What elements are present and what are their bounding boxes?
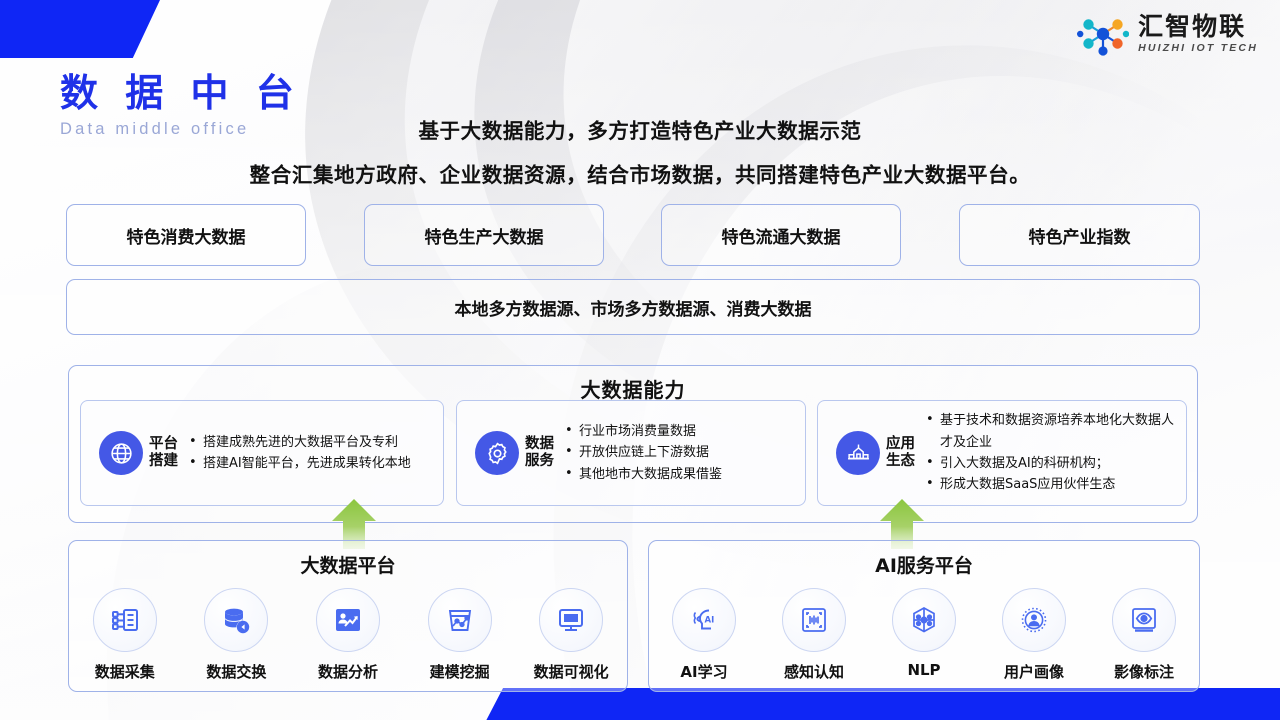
platform-item-label: 用户画像: [1004, 661, 1064, 682]
data-source-band-label: 本地多方数据源、市场多方数据源、消费大数据: [455, 295, 812, 320]
top-box-consumption[interactable]: 特色消费大数据: [66, 204, 306, 266]
platform-item-data-visualization[interactable]: 数据可视化: [519, 588, 623, 682]
platform-title: AI服务平台: [649, 551, 1199, 578]
platform-item-data-collect[interactable]: 数据采集: [73, 588, 177, 682]
data-visualization-icon: [539, 588, 603, 652]
capability-name-line-2: 生态: [886, 453, 915, 469]
platform-item-label: 数据交换: [206, 661, 266, 682]
bullet-item: 开放供应链上下游数据: [565, 442, 797, 463]
platform-item-label: 建模挖掘: [430, 661, 490, 682]
data-collect-icon: [93, 588, 157, 652]
platform-item-list: 数据采集 数据交换: [69, 588, 627, 682]
bullet-item: 搭建成熟先进的大数据平台及专利: [189, 432, 435, 453]
bullet-item: 其他地市大数据成果借鉴: [565, 464, 797, 485]
top-box-circulation[interactable]: 特色流通大数据: [661, 204, 901, 266]
capability-item-data-service[interactable]: 数据 服务 行业市场消费量数据 开放供应链上下游数据 其他地市大数据成果借鉴: [456, 400, 806, 506]
top-box-label: 特色生产大数据: [425, 223, 544, 248]
bullet-item: 形成大数据SaaS应用伙伴生态: [926, 474, 1178, 495]
platform-item-label: 感知认知: [784, 661, 844, 682]
platform-item-list: AI AI学习: [649, 588, 1199, 682]
data-analysis-icon: [316, 588, 380, 652]
platform-item-label: AI学习: [680, 661, 727, 682]
top-box-label: 特色流通大数据: [722, 223, 841, 248]
data-source-band[interactable]: 本地多方数据源、市场多方数据源、消费大数据: [66, 279, 1200, 335]
logo-name-cn: 汇智物联: [1138, 14, 1258, 39]
logo-name-en: HUIZHI IOT TECH: [1138, 43, 1258, 54]
headline-line-2: 整合汇集地方政府、企业数据资源，结合市场数据，共同搭建特色产业大数据平台。: [0, 158, 1280, 188]
platform-item-label: 数据采集: [95, 661, 155, 682]
capability-item-application-ecosystem[interactable]: 应用 生态 基于技术和数据资源培养本地化大数据人才及企业 引入大数据及AI的科研…: [817, 400, 1187, 506]
image-annotation-icon: [1112, 588, 1176, 652]
svg-text:AI: AI: [705, 615, 715, 625]
platform-big-data: 大数据平台 数据采: [68, 540, 628, 692]
capability-item-name: 应用 生态: [886, 436, 920, 469]
top-box-label: 特色消费大数据: [127, 223, 246, 248]
capability-bullet-list: 搭建成熟先进的大数据平台及专利 搭建AI智能平台，先进成果转化本地: [189, 432, 435, 475]
bullet-item: 基于技术和数据资源培养本地化大数据人才及企业: [926, 410, 1178, 453]
nlp-network-icon: [892, 588, 956, 652]
platform-item-nlp[interactable]: NLP: [872, 588, 976, 679]
platform-item-user-profile[interactable]: 用户画像: [982, 588, 1086, 682]
globe-icon: [99, 431, 143, 475]
modeling-mining-icon: [428, 588, 492, 652]
platform-item-image-annotation[interactable]: 影像标注: [1092, 588, 1196, 682]
user-profile-icon: [1002, 588, 1066, 652]
capability-item-name: 数据 服务: [525, 436, 559, 469]
bullet-item: 行业市场消费量数据: [565, 421, 797, 442]
brand-logo: 汇智物联 HUIZHI IOT TECH: [1077, 12, 1258, 56]
platform-item-modeling-mining[interactable]: 建模挖掘: [408, 588, 512, 682]
platform-item-label: 影像标注: [1114, 661, 1174, 682]
platform-item-label: 数据可视化: [534, 661, 609, 682]
ai-head-icon: AI: [672, 588, 736, 652]
platform-item-ai-learning[interactable]: AI AI学习: [652, 588, 756, 682]
platform-item-perception[interactable]: 感知认知: [762, 588, 866, 682]
capability-name-line-1: 平台: [149, 436, 178, 452]
slide-canvas: 汇智物联 HUIZHI IOT TECH 数 据 中 台 Data middle…: [0, 0, 1280, 720]
top-box-index[interactable]: 特色产业指数: [959, 204, 1200, 266]
bullet-item: 搭建AI智能平台，先进成果转化本地: [189, 453, 435, 474]
capability-name-line-2: 搭建: [149, 453, 178, 469]
perception-icon: [782, 588, 846, 652]
platform-title: 大数据平台: [69, 551, 627, 578]
platform-item-data-exchange[interactable]: 数据交换: [184, 588, 288, 682]
gear-icon: [475, 431, 519, 475]
capability-bullet-list: 基于技术和数据资源培养本地化大数据人才及企业 引入大数据及AI的科研机构； 形成…: [926, 410, 1178, 496]
platform-item-label: NLP: [907, 661, 940, 679]
platform-item-data-analysis[interactable]: 数据分析: [296, 588, 400, 682]
capability-item-name: 平台 搭建: [149, 436, 183, 469]
data-exchange-icon: [204, 588, 268, 652]
institution-icon: [836, 431, 880, 475]
capability-name-line-2: 服务: [525, 453, 554, 469]
bullet-item: 引入大数据及AI的科研机构；: [926, 453, 1178, 474]
capability-item-platform[interactable]: 平台 搭建 搭建成熟先进的大数据平台及专利 搭建AI智能平台，先进成果转化本地: [80, 400, 444, 506]
logo-molecule-icon: [1077, 12, 1129, 56]
top-left-accent-shape: [0, 0, 160, 58]
capability-name-line-1: 应用: [886, 436, 915, 452]
top-box-production[interactable]: 特色生产大数据: [364, 204, 604, 266]
capability-name-line-1: 数据: [525, 436, 554, 452]
capability-bullet-list: 行业市场消费量数据 开放供应链上下游数据 其他地市大数据成果借鉴: [565, 421, 797, 485]
platform-ai-service: AI服务平台 AI AI学习: [648, 540, 1200, 692]
headline: 基于大数据能力，多方打造特色产业大数据示范 整合汇集地方政府、企业数据资源，结合…: [0, 114, 1280, 188]
page-title-cn: 数 据 中 台: [60, 62, 301, 117]
platform-item-label: 数据分析: [318, 661, 378, 682]
top-box-label: 特色产业指数: [1029, 223, 1131, 248]
capability-panel-title: 大数据能力: [69, 374, 1197, 403]
headline-line-1: 基于大数据能力，多方打造特色产业大数据示范: [0, 114, 1280, 144]
